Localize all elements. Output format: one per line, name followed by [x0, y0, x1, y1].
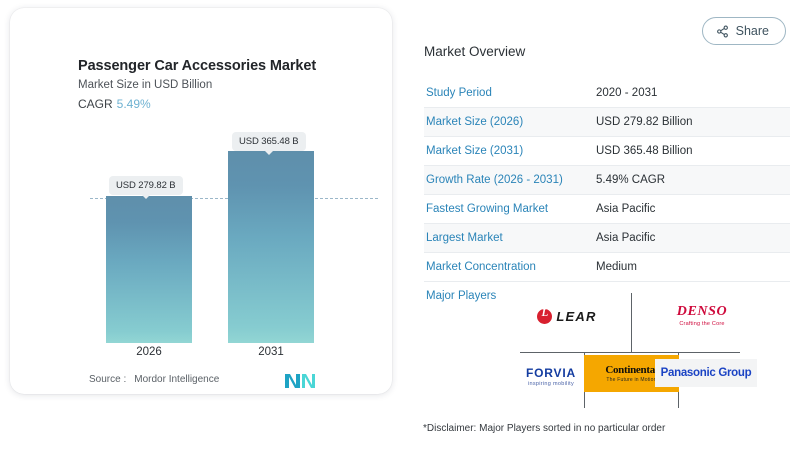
table-row: Fastest Growing Market Asia Pacific	[424, 195, 790, 224]
chart-card: Passenger Car Accessories Market Market …	[10, 8, 392, 394]
row-value: USD 365.48 Billion	[596, 145, 693, 157]
disclaimer-text: *Disclaimer: Major Players sorted in no …	[423, 423, 665, 434]
row-key: Growth Rate (2026 - 2031)	[424, 174, 596, 186]
logo-forvia-tagline: inspiring mobility	[528, 381, 574, 387]
market-overview-table: Study Period 2020 - 2031 Market Size (20…	[424, 79, 790, 316]
share-button[interactable]: Share	[702, 17, 786, 45]
logo-panasonic-label: Panasonic Group	[661, 367, 752, 379]
major-players-logo-grid: LEAR DENSO Crafting the Core FORVIA insp…	[500, 293, 770, 408]
logo-lear: LEAR	[520, 301, 614, 331]
share-icon	[716, 25, 729, 38]
table-row: Market Size (2026) USD 279.82 Billion	[424, 108, 790, 137]
row-key: Market Size (2026)	[424, 116, 596, 128]
table-row: Market Size (2031) USD 365.48 Billion	[424, 137, 790, 166]
bar-2026[interactable]	[106, 196, 192, 343]
x-axis-label-2026: 2026	[106, 346, 192, 358]
grid-divider	[631, 293, 632, 352]
row-value: Asia Pacific	[596, 232, 655, 244]
chart-source-name: Mordor Intelligence	[134, 374, 219, 385]
row-key: Fastest Growing Market	[424, 203, 596, 215]
bar-label-2026: USD 279.82 B	[109, 176, 183, 195]
market-overview-panel: Market Overview Study Period 2020 - 2031…	[424, 44, 790, 316]
row-value: 2020 - 2031	[596, 87, 657, 99]
market-overview-title: Market Overview	[424, 44, 790, 59]
logo-denso-tagline: Crafting the Core	[679, 321, 724, 327]
logo-panasonic: Panasonic Group	[655, 359, 757, 387]
logo-continental-label: Continental	[605, 364, 657, 376]
share-button-label: Share	[736, 24, 769, 38]
row-key: Market Concentration	[424, 261, 596, 273]
report-infographic: Share Passenger Car Accessories Market M…	[0, 0, 800, 459]
logo-continental-tagline: The Future in Motion	[606, 377, 656, 383]
logo-forvia: FORVIA inspiring mobility	[508, 361, 594, 391]
row-key: Largest Market	[424, 232, 596, 244]
bar-label-2031: USD 365.48 B	[232, 132, 306, 151]
row-value: Medium	[596, 261, 637, 273]
table-row: Study Period 2020 - 2031	[424, 79, 790, 108]
table-row: Market Concentration Medium	[424, 253, 790, 282]
bar-2031[interactable]	[228, 151, 314, 343]
bar-chart-plot: USD 279.82 B USD 365.48 B 2026 2031	[10, 8, 392, 394]
table-row: Largest Market Asia Pacific	[424, 224, 790, 253]
logo-denso-label: DENSO	[677, 304, 727, 320]
row-key: Market Size (2031)	[424, 145, 596, 157]
row-value: 5.49% CAGR	[596, 174, 665, 186]
row-value: USD 279.82 Billion	[596, 116, 693, 128]
chart-source-label: Source :	[89, 374, 126, 385]
mordor-intelligence-logo-icon	[284, 372, 316, 389]
logo-lear-label: LEAR	[556, 309, 596, 324]
chart-source: Source :Mordor Intelligence	[89, 374, 219, 385]
x-axis-label-2031: 2031	[228, 346, 314, 358]
row-value: Asia Pacific	[596, 203, 655, 215]
lear-mark-icon	[537, 309, 552, 324]
table-row: Growth Rate (2026 - 2031) 5.49% CAGR	[424, 166, 790, 195]
grid-divider	[520, 352, 584, 353]
logo-denso: DENSO Crafting the Core	[652, 298, 752, 332]
row-key: Study Period	[424, 87, 596, 99]
grid-divider	[678, 352, 740, 353]
logo-forvia-label: FORVIA	[526, 366, 576, 380]
